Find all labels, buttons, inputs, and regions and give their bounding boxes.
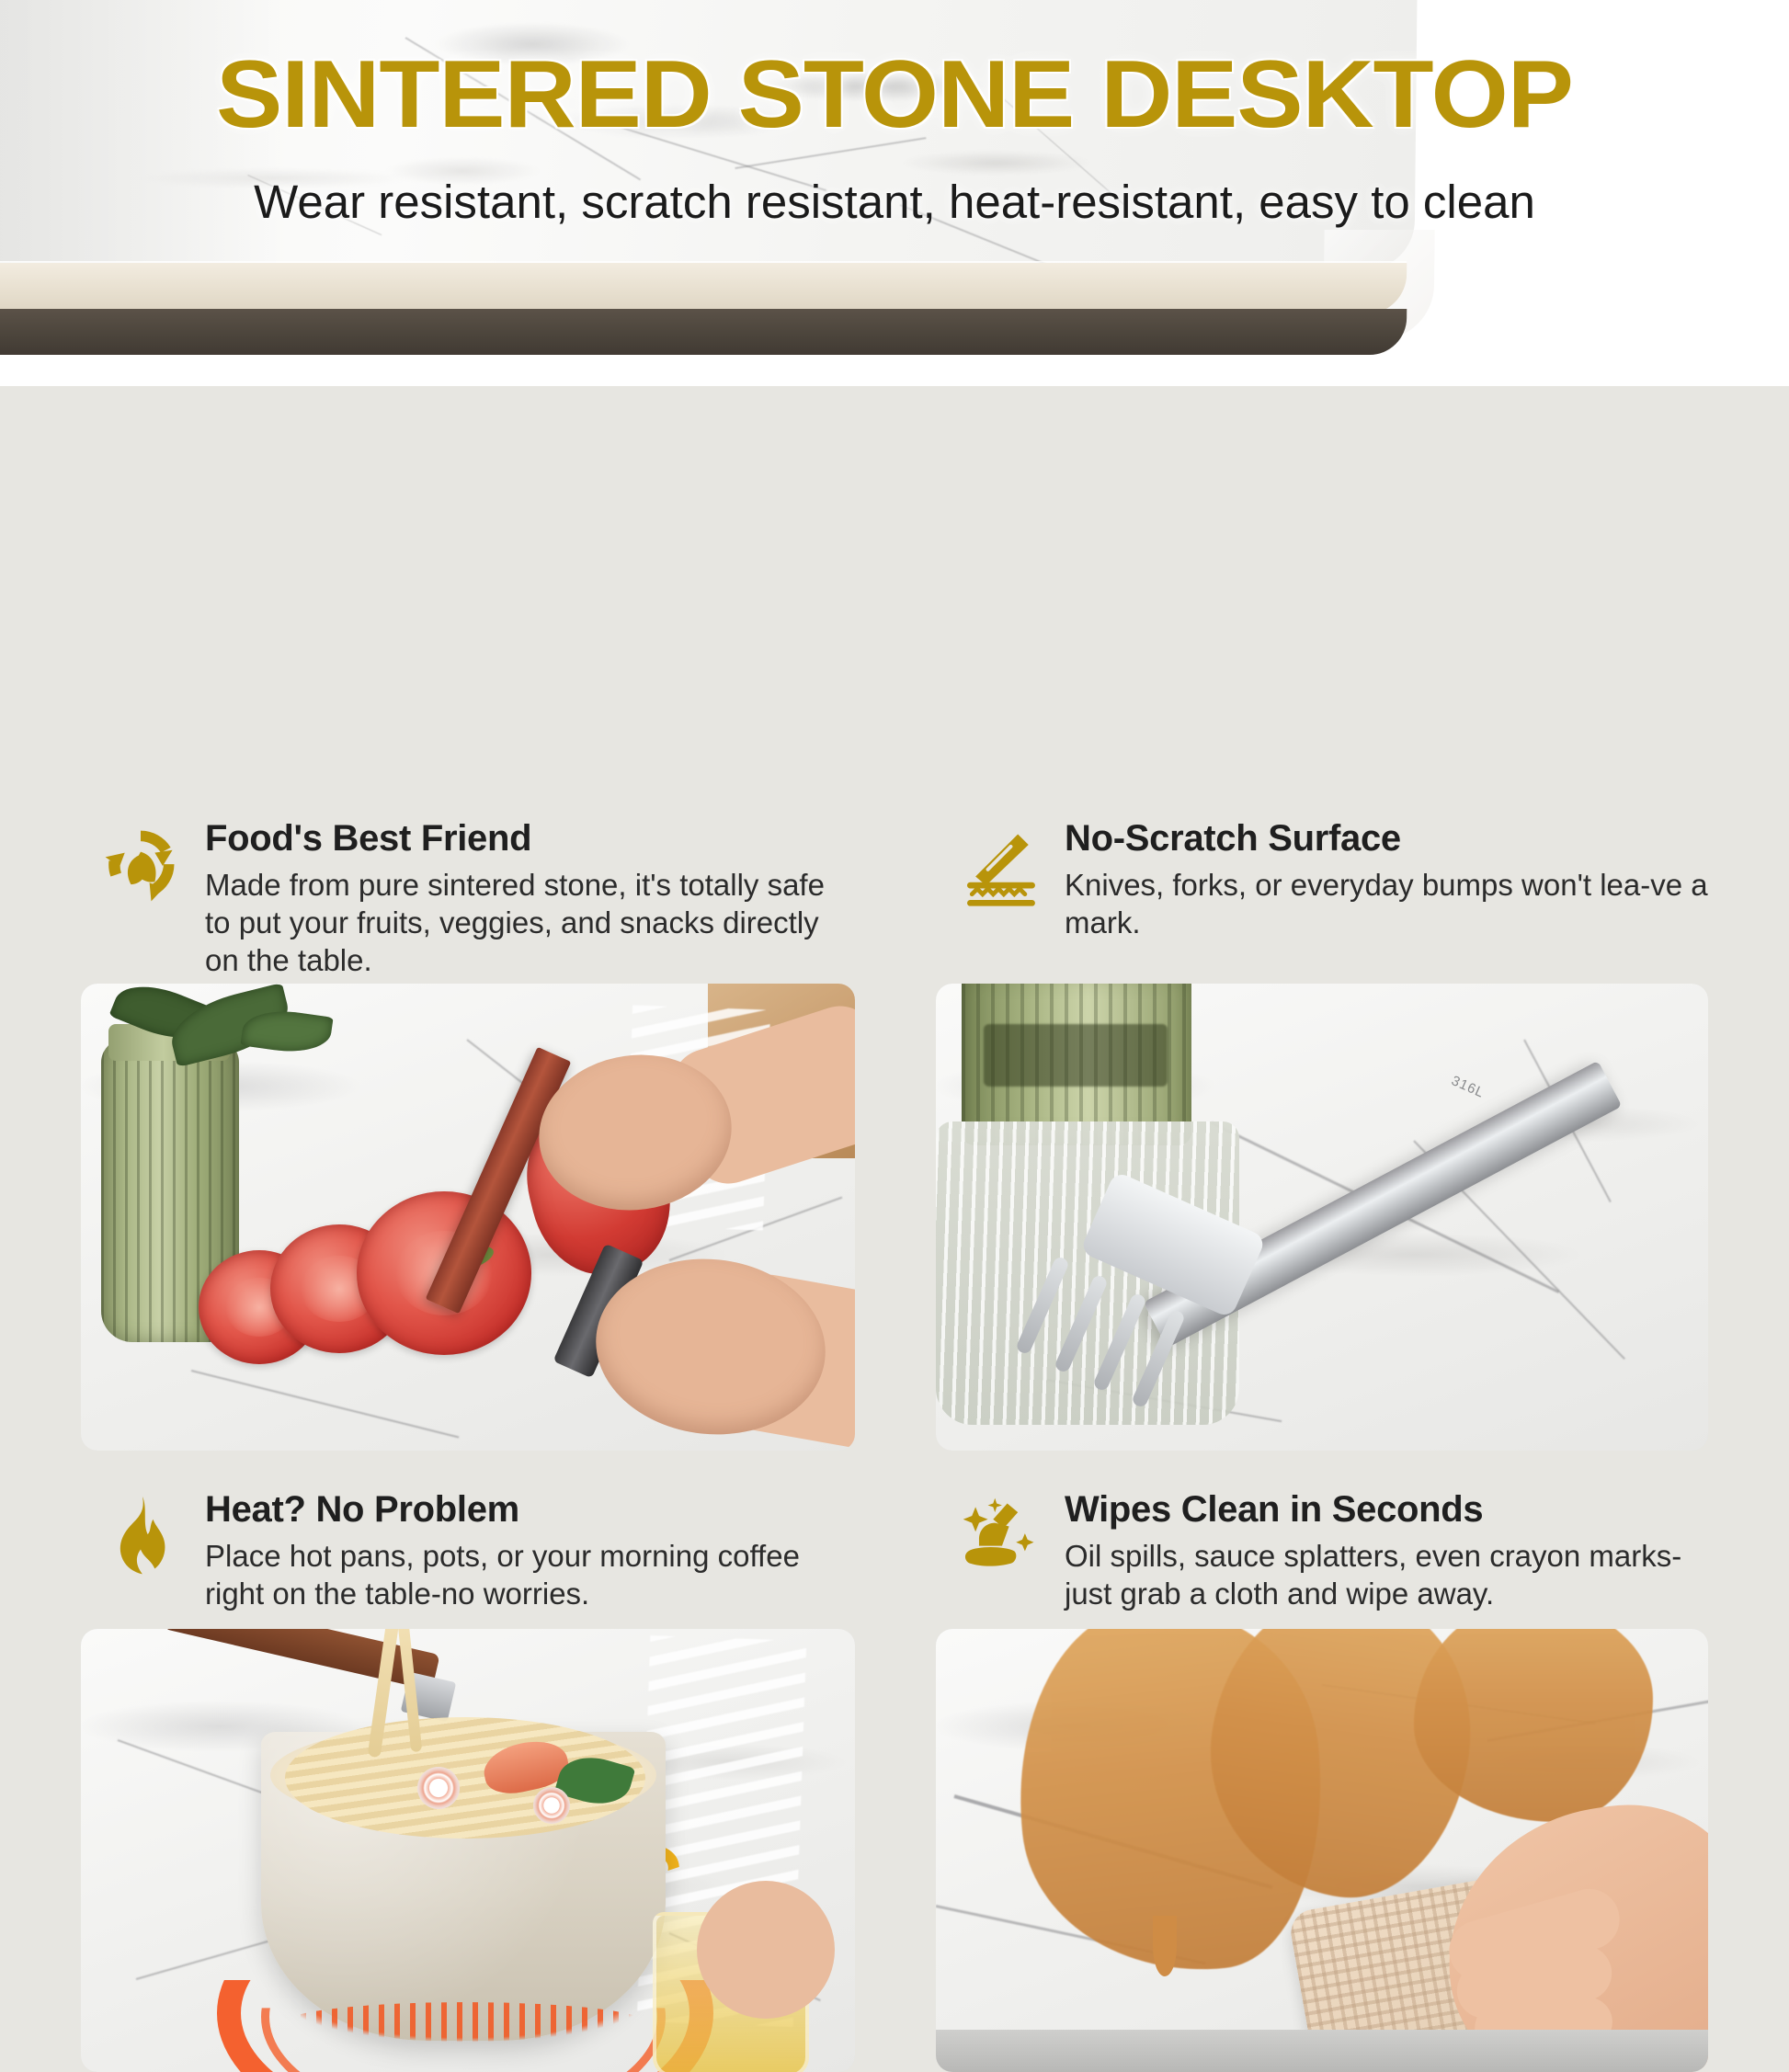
fish-cake-topping: [533, 1787, 570, 1824]
feature-block-foods-best-friend: Food's Best Friend Made from pure sinter…: [97, 818, 832, 980]
feature-body: Knives, forks, or everyday bumps won't l…: [1065, 867, 1719, 942]
feature-title: Wipes Clean in Seconds: [1065, 1489, 1728, 1531]
features-panel: Food's Best Friend Made from pure sinter…: [0, 386, 1789, 1789]
recycle-leaf-icon: [97, 818, 185, 980]
stone-slab-edge-band: [0, 263, 1407, 314]
feature-block-wipes-clean: Wipes Clean in Seconds Oil spills, sauce…: [956, 1489, 1728, 1613]
photo-fork-on-marble: 316L: [936, 984, 1708, 1451]
vase-shadow-band: [984, 1024, 1168, 1087]
hand-holding-glass: [697, 1881, 835, 2019]
feature-body: Made from pure sintered stone, it's tota…: [205, 867, 832, 980]
hero-banner: SINTERED STONE DESKTOP Wear resistant, s…: [0, 0, 1789, 386]
heat-radiating-lines: [285, 2002, 645, 2043]
page-title: SINTERED STONE DESKTOP: [0, 40, 1789, 150]
photo-wipe-coffee-spill: [936, 1629, 1708, 2072]
fish-cake-topping: [417, 1767, 460, 1809]
coffee-drip: [1153, 1916, 1177, 1976]
feature-body: Place hot pans, pots, or your morning co…: [205, 1538, 860, 1613]
stone-slab-dark-base: [0, 309, 1407, 355]
feature-title: Food's Best Friend: [205, 818, 832, 860]
photo-tomato-cutting: [81, 984, 855, 1451]
feature-title: Heat? No Problem: [205, 1489, 860, 1531]
table-edge: [936, 2030, 1708, 2072]
feature-block-heat-no-problem: Heat? No Problem Place hot pans, pots, o…: [97, 1489, 860, 1613]
knife-on-surface-icon: [956, 818, 1044, 942]
photo-hot-noodle-bowl: [81, 1629, 855, 2072]
flame-icon: [97, 1489, 185, 1613]
page-subtitle: Wear resistant, scratch resistant, heat-…: [0, 175, 1789, 229]
wipe-sparkle-icon: [956, 1489, 1044, 1613]
feature-title: No-Scratch Surface: [1065, 818, 1719, 860]
feature-body: Oil spills, sauce splatters, even crayon…: [1065, 1538, 1728, 1613]
feature-block-no-scratch-surface: No-Scratch Surface Knives, forks, or eve…: [956, 818, 1719, 942]
